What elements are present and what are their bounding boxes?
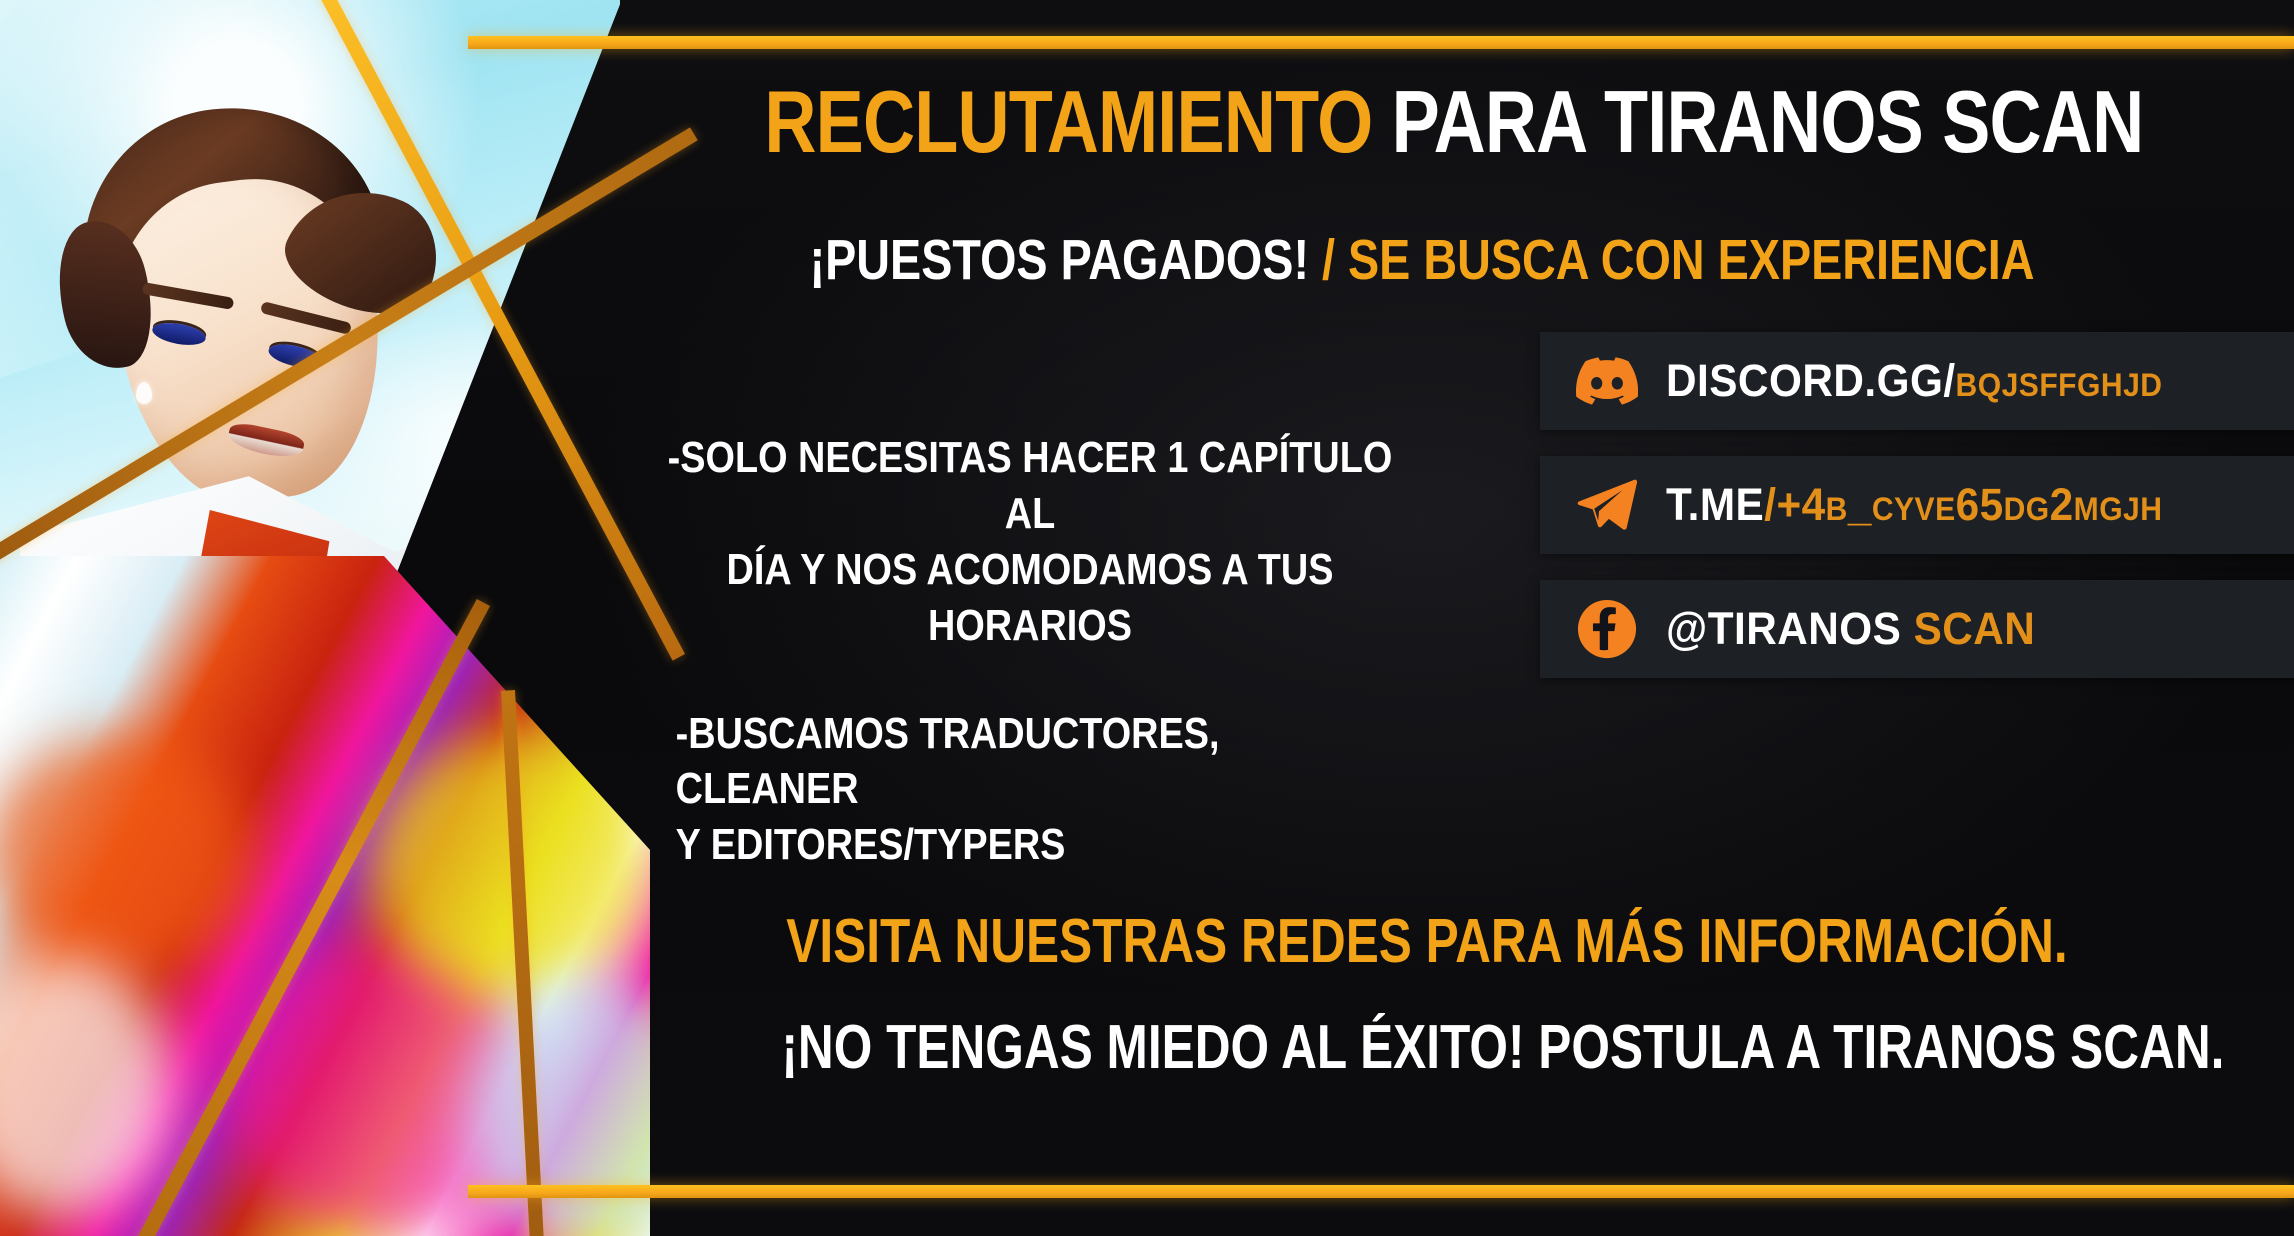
recruitment-poster: RECLUTAMIENTO PARA TIRANOS SCAN ¡PUESTOS… (0, 0, 2294, 1236)
color-blob-white (0, 956, 170, 1216)
contact-facebook-suffix: SCAN (1901, 603, 2035, 654)
cta-line-2: ¡NO TENGAS MIEDO AL ÉXITO! POSTULA A TIR… (781, 1012, 2072, 1083)
title-accent-part: RECLUTAMIENTO (764, 72, 1372, 171)
contact-telegram-label: T.ME/+4B_CyVe65DG2MGJH (1666, 479, 2162, 531)
subtitle-accent-part: / SE BUSCA CON EXPERIENCIA (1309, 228, 2034, 292)
body-line: Y EDITORES/TYPERS (676, 817, 1400, 873)
body-copy: -SOLO NECESITAS HACER 1 CAPÍTULO AL DÍA … (660, 430, 1400, 873)
contact-facebook-label: @TIRANOS SCAN (1666, 603, 2035, 655)
contact-telegram[interactable]: T.ME/+4B_CyVe65DG2MGJH (1540, 456, 2294, 554)
body-paragraph-2: -BUSCAMOS TRADUCTORES, CLEANER Y EDITORE… (660, 706, 1400, 874)
character-sweat-drop (136, 382, 152, 404)
body-paragraph-1: -SOLO NECESITAS HACER 1 CAPÍTULO AL DÍA … (660, 430, 1400, 654)
contact-facebook[interactable]: @TIRANOS SCAN (1540, 580, 2294, 678)
body-line: DÍA Y NOS ACOMODAMOS A TUS HORARIOS (660, 542, 1400, 654)
contact-facebook-handle: @TIRANOS (1666, 603, 1901, 654)
illustration-panel (0, 0, 640, 1236)
contact-list: DISCORD.GG/bQJsFFGHJd T.ME/+4B_CyVe65DG2… (1540, 332, 2294, 704)
contact-discord-label: DISCORD.GG/bQJsFFGHJd (1666, 355, 2162, 407)
contact-discord-domain: DISCORD.GG/ (1666, 355, 1956, 406)
title-white-part: PARA TIRANOS SCAN (1372, 72, 2143, 171)
discord-icon (1576, 350, 1638, 412)
subtitle-white-part: ¡PUESTOS PAGADOS! (810, 228, 1309, 292)
telegram-icon (1576, 474, 1638, 536)
content-column: RECLUTAMIENTO PARA TIRANOS SCAN ¡PUESTOS… (620, 0, 2294, 1236)
facebook-icon (1576, 598, 1638, 660)
contact-telegram-code: /+4B_CyVe65DG2MGJH (1764, 479, 2162, 530)
body-line: -SOLO NECESITAS HACER 1 CAPÍTULO AL (668, 433, 1393, 538)
page-subtitle: ¡PUESTOS PAGADOS! / SE BUSCA CON EXPERIE… (764, 232, 2079, 289)
contact-discord-code: bQJsFFGHJd (1956, 355, 2163, 406)
color-blob-orange (0, 736, 250, 976)
contact-discord[interactable]: DISCORD.GG/bQJsFFGHJd (1540, 332, 2294, 430)
body-line: -BUSCAMOS TRADUCTORES, CLEANER (676, 709, 1220, 814)
page-title: RECLUTAMIENTO PARA TIRANOS SCAN (764, 78, 2079, 166)
contact-telegram-domain: T.ME (1666, 479, 1764, 530)
cta-line-1: VISITA NUESTRAS REDES PARA MÁS INFORMACI… (781, 906, 2072, 977)
